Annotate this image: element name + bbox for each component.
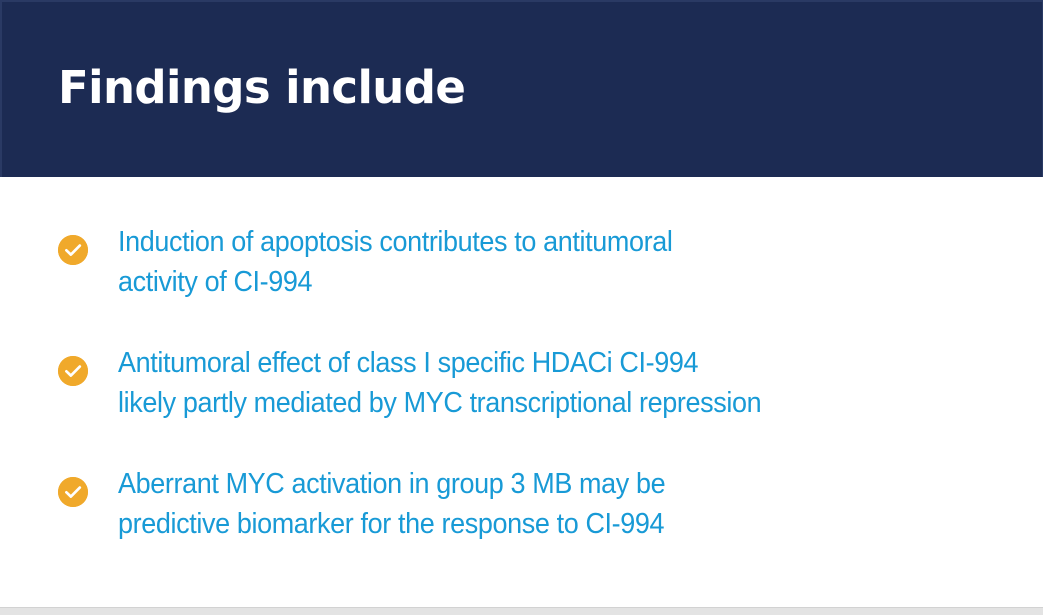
slide-bottom-strip — [0, 607, 1043, 615]
check-circle-icon — [58, 477, 88, 507]
list-item-text: Induction of apoptosis contributes to an… — [118, 222, 978, 302]
list-item-text: Antitumoral effect of class I specific H… — [118, 343, 978, 423]
list-item: Antitumoral effect of class I specific H… — [0, 343, 1043, 423]
slide-canvas: Findings include Induction of apoptosis … — [0, 0, 1043, 615]
slide-body: Induction of apoptosis contributes to an… — [0, 177, 1043, 607]
findings-bullet-list: Induction of apoptosis contributes to an… — [0, 177, 1043, 585]
check-circle-icon — [58, 356, 88, 386]
page-title: Findings include — [58, 60, 465, 116]
check-circle-icon — [58, 235, 88, 265]
list-item: Induction of apoptosis contributes to an… — [0, 222, 1043, 302]
slide-header-band: Findings include — [0, 0, 1043, 177]
list-item-text: Aberrant MYC activation in group 3 MB ma… — [118, 464, 978, 544]
list-item: Aberrant MYC activation in group 3 MB ma… — [0, 464, 1043, 544]
